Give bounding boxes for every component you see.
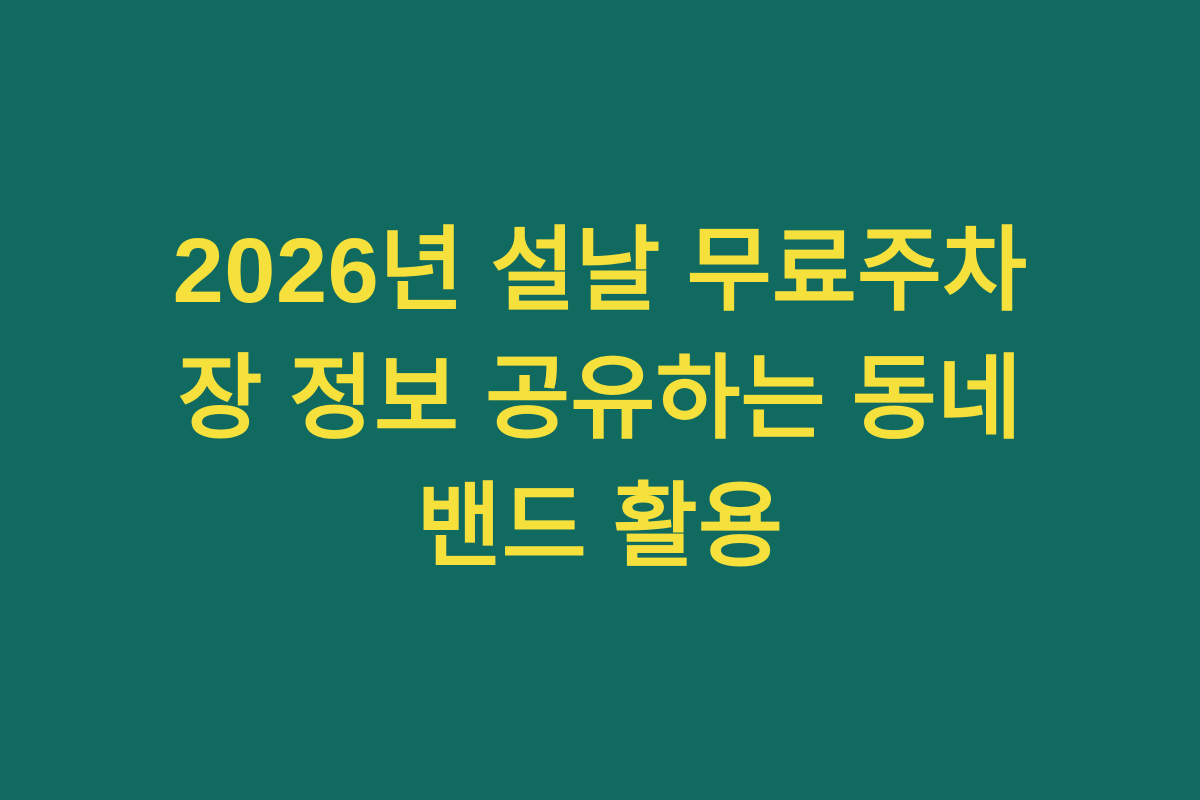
headline-line-1: 2026년 설날 무료주차: [95, 207, 1105, 335]
headline-line-3: 밴드 활용: [95, 463, 1105, 591]
thumbnail-card: 2026년 설날 무료주차 장 정보 공유하는 동네 밴드 활용: [0, 0, 1200, 800]
headline-line-2: 장 정보 공유하는 동네: [95, 335, 1105, 463]
headline-block: 2026년 설날 무료주차 장 정보 공유하는 동네 밴드 활용: [95, 207, 1105, 591]
